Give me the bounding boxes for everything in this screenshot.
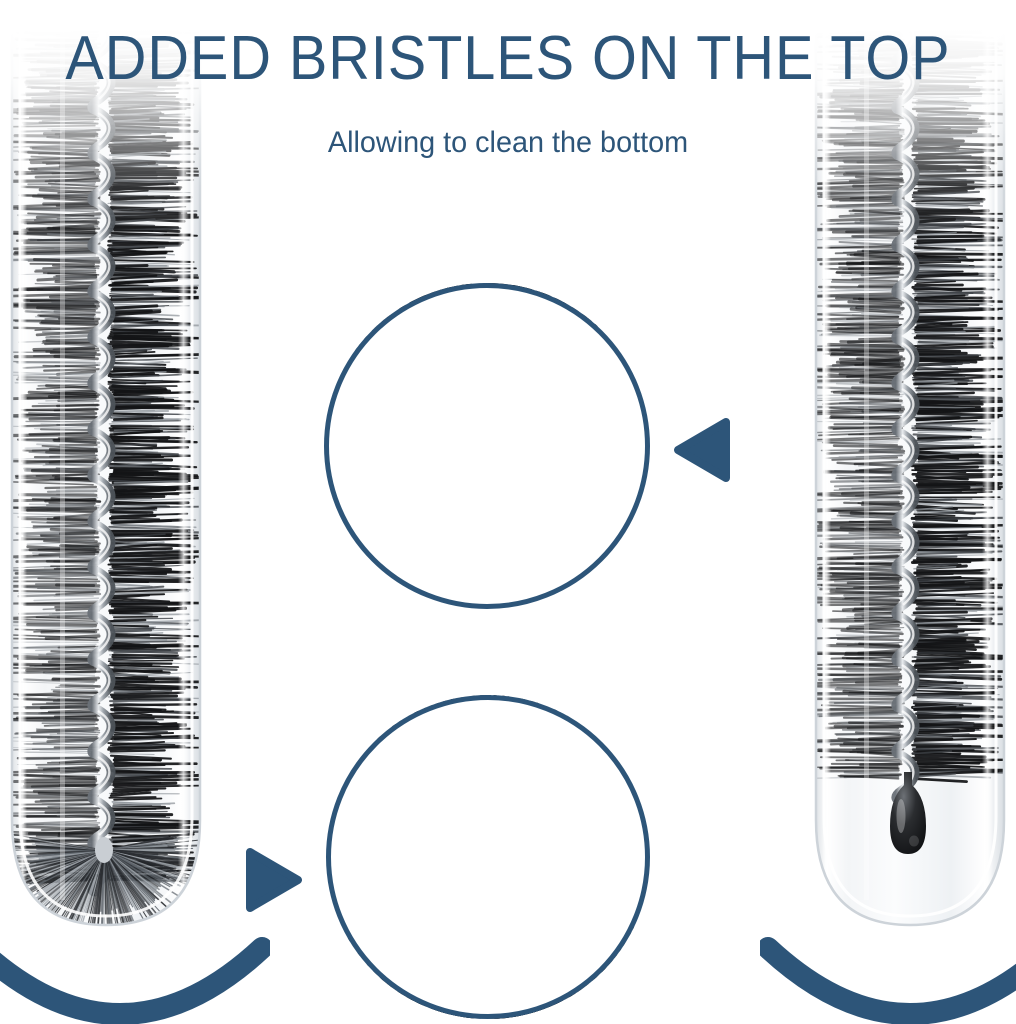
infographic-canvas: ADDED BRISTLES ON THE TOP Allowing to cl…: [0, 0, 1016, 1024]
callout-brush-tip-detail: [324, 283, 650, 609]
callout-bottom-ring: [326, 695, 650, 1019]
callout-top-ring: [324, 283, 650, 609]
page-subtitle: Allowing to clean the bottom: [20, 128, 995, 158]
callout-brush-head-detail: [326, 695, 650, 1019]
triangle-pointing-left-icon: [672, 414, 732, 486]
triangle-pointing-right-icon: [244, 844, 304, 916]
page-title: ADDED BRISTLES ON THE TOP: [36, 28, 981, 90]
